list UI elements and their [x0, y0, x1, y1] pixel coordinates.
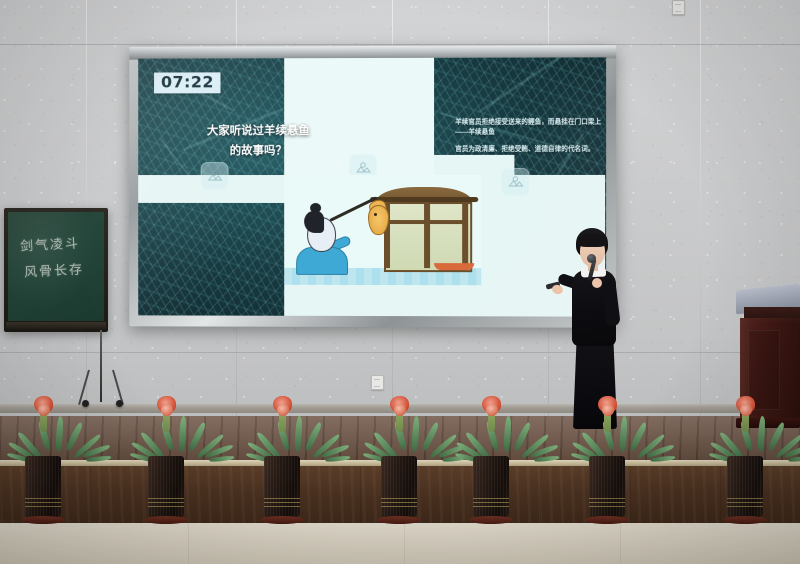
plant-bloom-center: [277, 404, 289, 416]
plant-bloom-center: [38, 404, 50, 416]
plant-5: [462, 398, 520, 528]
wall-socket[interactable]: [672, 0, 685, 15]
plant-saucer: [377, 516, 421, 524]
presenter-left-hand: [592, 278, 602, 288]
slide-illustration: [284, 175, 481, 285]
plant-leaf: [179, 416, 186, 452]
plant-bloom-center: [394, 404, 406, 416]
plant-pot: [473, 456, 509, 518]
slide-question-text: 大家听说过羊续悬鱼 的故事吗？: [164, 121, 353, 161]
hanging-fish-icon: [368, 205, 389, 235]
blackboard-stand-post: [100, 330, 102, 402]
chalk-text-line1: 剑气凌斗: [20, 232, 81, 254]
pot-gold-band: [148, 498, 184, 499]
microphone-head-icon: [587, 254, 596, 263]
plant-3: [253, 398, 311, 528]
question-line-1: 大家听说过羊续悬鱼: [164, 121, 353, 141]
plant-pot: [148, 456, 184, 518]
pavilion-beam: [384, 220, 468, 224]
figure-hair: [304, 211, 324, 233]
plant-saucer: [585, 516, 629, 524]
pot-gold-band: [25, 498, 61, 499]
pot-gold-band: [473, 506, 509, 507]
pot-gold-band: [473, 502, 509, 503]
plant-2: [137, 398, 195, 528]
front-tile-floor: [0, 523, 800, 564]
pot-gold-band: [148, 506, 184, 507]
wall-socket[interactable]: [371, 375, 384, 390]
pavilion-post: [462, 202, 468, 268]
screenshot-root: 剑气凌斗 风骨长存: [0, 0, 800, 564]
plant-leaf: [412, 416, 419, 452]
boat-icon: [434, 263, 474, 270]
pot-gold-band: [148, 502, 184, 503]
projection-screen[interactable]: 07:22 大家听说过羊续悬鱼 的故事吗？ 羊续官员拒绝接受送来的鲤鱼，而悬挂在…: [129, 45, 616, 327]
blackboard-caster: [82, 400, 89, 407]
plant-saucer: [260, 516, 304, 524]
figure-topknot: [310, 203, 321, 213]
picture-icon: [506, 173, 524, 191]
pot-gold-band: [381, 506, 417, 507]
wall-seam: [700, 0, 701, 430]
pot-gold-band: [727, 506, 763, 507]
wall-seam: [0, 44, 800, 45]
question-line-2: 的故事吗？: [164, 141, 353, 161]
media-placeholder-icon[interactable]: [201, 162, 229, 190]
plant-bloom-center: [740, 404, 752, 416]
plant-bloom-center: [486, 404, 498, 416]
plant-bloom-center: [161, 404, 173, 416]
pot-gold-band: [264, 506, 300, 507]
plant-bloom-center: [602, 404, 614, 416]
presenter-fringe: [577, 234, 607, 247]
body-paragraph-2: 官员为政清廉、拒绝受贿、道德自律的代名词。: [455, 145, 606, 156]
pot-gold-band: [25, 506, 61, 507]
plant-saucer: [469, 516, 513, 524]
blackboard-caster: [116, 400, 123, 407]
slide-body-text: 羊续官员拒绝接受送来的鲤鱼，而悬挂在门口梁上——羊续悬鱼 官员为政清廉、拒绝受贿…: [455, 118, 606, 162]
plant-leaf: [620, 416, 627, 452]
plant-leaf: [504, 416, 511, 452]
plant-pot: [727, 456, 763, 518]
media-placeholder-icon[interactable]: [501, 168, 529, 196]
plant-leaf: [758, 416, 765, 452]
pot-gold-band: [473, 498, 509, 499]
plant-leaf: [295, 416, 302, 452]
chalk-text-line2: 风骨长存: [24, 258, 85, 280]
screen-surface[interactable]: 07:22 大家听说过羊续悬鱼 的故事吗？ 羊续官员拒绝接受送来的鲤鱼，而悬挂在…: [138, 57, 606, 316]
plant-4: [370, 398, 428, 528]
blackboard-surface: 剑气凌斗 风骨长存: [8, 212, 104, 321]
pavilion-post: [424, 202, 430, 268]
pot-gold-band: [727, 502, 763, 503]
presenter-right-hand: [551, 284, 564, 296]
wall-seam: [0, 352, 800, 353]
plant-saucer: [21, 516, 65, 524]
plant-7: [716, 398, 774, 528]
pot-gold-band: [589, 506, 625, 507]
pot-gold-band: [381, 498, 417, 499]
plant-pot: [25, 456, 61, 518]
picture-icon: [206, 167, 224, 185]
pot-gold-band: [25, 502, 61, 503]
pot-gold-band: [589, 502, 625, 503]
plant-saucer: [723, 516, 767, 524]
fish-eye: [374, 213, 377, 216]
plant-leaf: [56, 416, 63, 452]
pot-gold-band: [727, 498, 763, 499]
plant-1: [14, 398, 72, 528]
chalk-tray: [6, 322, 106, 329]
pot-gold-band: [264, 498, 300, 499]
body-paragraph-1: 羊续官员拒绝接受送来的鲤鱼，而悬挂在门口梁上——羊续悬鱼: [455, 118, 606, 139]
plant-6: [578, 398, 636, 528]
slide-timer: 07:22: [154, 72, 221, 93]
plant-pot: [264, 456, 300, 518]
plant-saucer: [144, 516, 188, 524]
pot-gold-band: [589, 498, 625, 499]
pot-gold-band: [264, 502, 300, 503]
plant-pot: [589, 456, 625, 518]
blackboard[interactable]: 剑气凌斗 风骨长存: [4, 208, 108, 332]
plant-pot: [381, 456, 417, 518]
slide: 07:22 大家听说过羊续悬鱼 的故事吗？ 羊续官员拒绝接受送来的鲤鱼，而悬挂在…: [138, 57, 606, 316]
pot-gold-band: [381, 502, 417, 503]
